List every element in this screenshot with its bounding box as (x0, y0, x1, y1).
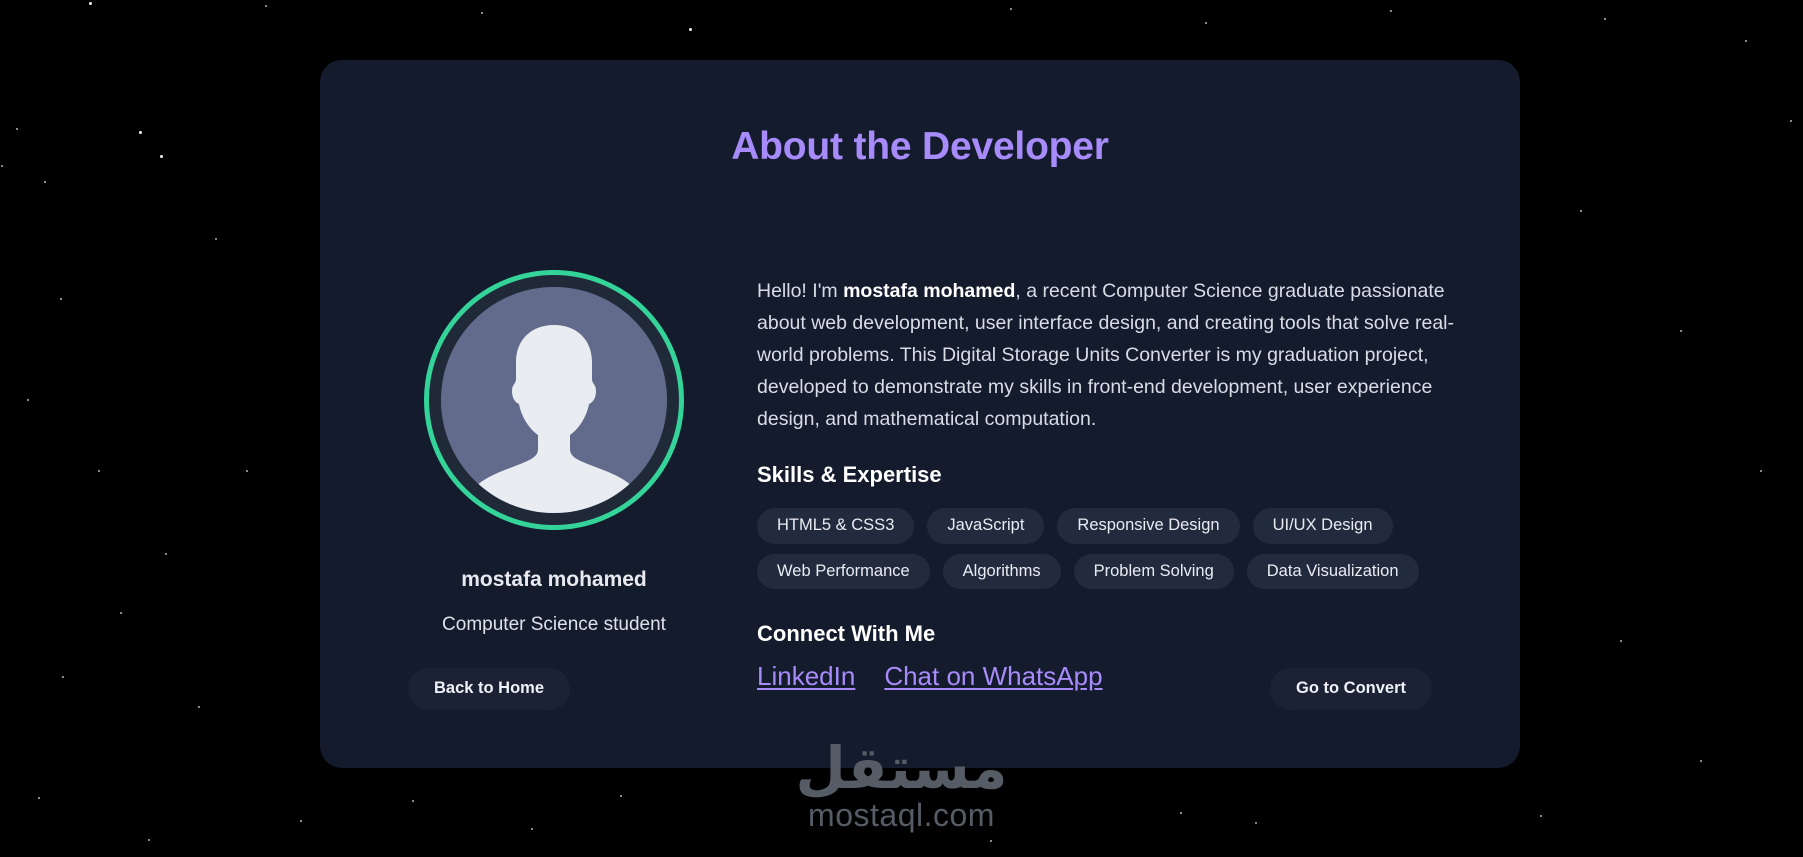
card-actions: Back to Home Go to Convert (408, 668, 1432, 710)
bio-paragraph: Hello! I'm mostafa mohamed, a recent Com… (757, 275, 1473, 435)
bio-name: mostafa mohamed (843, 280, 1015, 302)
star (1205, 22, 1207, 24)
star (481, 12, 483, 14)
star (1390, 10, 1392, 12)
star (160, 155, 163, 158)
star (62, 676, 64, 678)
star (1010, 8, 1012, 10)
star (16, 128, 18, 130)
star (1790, 120, 1792, 122)
avatar-image (441, 287, 667, 513)
profile-name: mostafa mohamed (408, 530, 700, 592)
star (139, 131, 142, 134)
star (1680, 330, 1682, 332)
star (1180, 812, 1182, 814)
profile-role: Computer Science student (408, 592, 700, 636)
star (1604, 18, 1606, 20)
skill-tag: Data Visualization (1247, 554, 1419, 590)
bio-rest: , a recent Computer Science graduate pas… (757, 280, 1454, 430)
star (265, 5, 267, 7)
skills-tag-list: HTML5 & CSS3JavaScriptResponsive DesignU… (757, 488, 1477, 589)
avatar (424, 270, 684, 530)
star (98, 470, 100, 472)
star (38, 797, 40, 799)
connect-heading: Connect With Me (757, 589, 1477, 647)
content-column: Hello! I'm mostafa mohamed, a recent Com… (757, 275, 1477, 692)
person-silhouette-icon (441, 287, 667, 513)
star (1580, 210, 1582, 212)
back-to-home-button[interactable]: Back to Home (408, 668, 570, 710)
star (1, 165, 3, 167)
star (120, 612, 122, 614)
star (165, 553, 167, 555)
skill-tag: UI/UX Design (1253, 508, 1393, 544)
star (1745, 40, 1747, 42)
go-to-convert-button[interactable]: Go to Convert (1270, 668, 1432, 710)
star (246, 470, 248, 472)
star (1540, 815, 1542, 817)
star (60, 298, 62, 300)
star (1620, 640, 1622, 642)
star (44, 181, 46, 183)
skill-tag: Algorithms (943, 554, 1061, 590)
skills-heading: Skills & Expertise (757, 435, 1477, 488)
page-title: About the Developer (320, 125, 1520, 169)
star (215, 238, 217, 240)
star (620, 795, 622, 797)
star (148, 839, 150, 841)
skill-tag: Problem Solving (1074, 554, 1234, 590)
star (27, 399, 29, 401)
star (198, 706, 200, 708)
skill-tag: Responsive Design (1057, 508, 1239, 544)
about-developer-card: About the Developer mostafa mohamed Comp… (320, 60, 1520, 768)
skill-tag: Web Performance (757, 554, 930, 590)
watermark-latin-text: mostaql.com (795, 795, 1007, 834)
star (300, 820, 302, 822)
star (990, 840, 992, 842)
skill-tag: HTML5 & CSS3 (757, 508, 914, 544)
star (412, 800, 414, 802)
bio-lead: Hello! I'm (757, 280, 843, 302)
star (689, 28, 692, 31)
profile-column: mostafa mohamed Computer Science student (408, 270, 700, 636)
star (1255, 822, 1257, 824)
star (531, 828, 533, 830)
skill-tag: JavaScript (927, 508, 1044, 544)
star (1760, 470, 1762, 472)
star (1700, 760, 1702, 762)
star (89, 2, 92, 5)
